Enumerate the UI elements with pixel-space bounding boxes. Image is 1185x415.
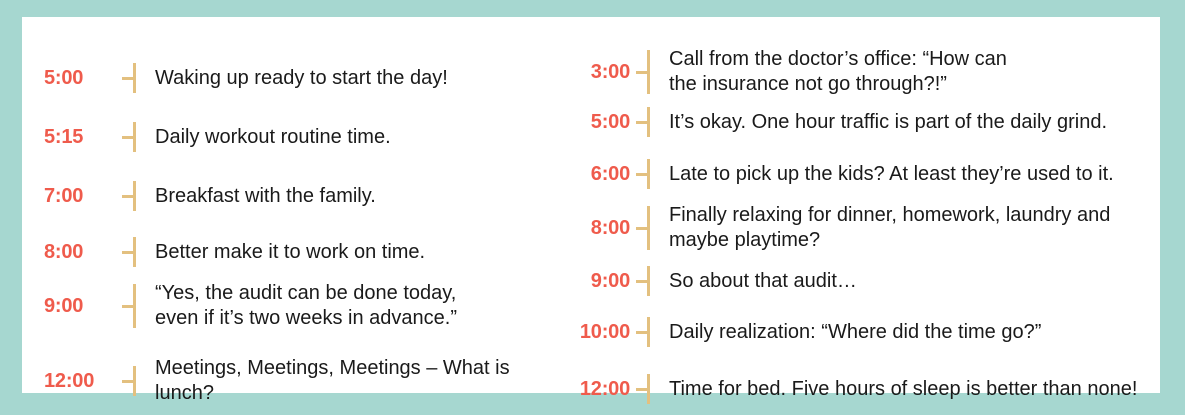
timeline-entry: 7:00 Breakfast with the family.: [22, 181, 547, 211]
entry-text: Waking up ready to start the day!: [155, 66, 547, 91]
entry-text: Finally relaxing for dinner, homework, l…: [669, 203, 1160, 253]
timeline-card: 5:00 Waking up ready to start the day! 5…: [22, 17, 1160, 393]
entry-text: Late to pick up the kids? At least they’…: [669, 162, 1160, 187]
timeline-tick-icon: [116, 284, 142, 328]
timeline-tick-icon: [630, 374, 656, 404]
afternoon-evening-column: 3:00 Call from the doctor’s office: “How…: [547, 17, 1160, 393]
timeline-tick-icon: [116, 366, 142, 396]
timeline-entry: 9:00 “Yes, the audit can be done today, …: [22, 281, 547, 331]
entry-time: 3:00: [558, 61, 630, 83]
timeline-entry: 3:00 Call from the doctor’s office: “How…: [547, 47, 1160, 97]
timeline-entry: 8:00 Better make it to work on time.: [22, 237, 547, 267]
timeline-tick-icon: [630, 107, 656, 137]
timeline-tick-icon: [630, 50, 656, 94]
entry-text: Daily workout routine time.: [155, 125, 547, 150]
entry-text: Meetings, Meetings, Meetings – What is l…: [155, 356, 547, 406]
timeline-tick-icon: [116, 63, 142, 93]
timeline-tick-icon: [630, 159, 656, 189]
timeline-tick-icon: [116, 237, 142, 267]
entry-text: Call from the doctor’s office: “How can …: [669, 47, 1160, 97]
timeline-tick-icon: [630, 266, 656, 296]
entry-time: 5:15: [44, 126, 116, 148]
entry-time: 6:00: [558, 163, 630, 185]
entry-time: 12:00: [44, 370, 116, 392]
timeline-entry: 5:00 Waking up ready to start the day!: [22, 63, 547, 93]
timeline-infographic: 5:00 Waking up ready to start the day! 5…: [0, 0, 1185, 415]
entry-text: “Yes, the audit can be done today, even …: [155, 281, 547, 331]
timeline-columns: 5:00 Waking up ready to start the day! 5…: [22, 17, 1160, 393]
entry-text: Breakfast with the family.: [155, 184, 547, 209]
timeline-entry: 9:00 So about that audit…: [547, 266, 1160, 296]
entry-time: 8:00: [558, 217, 630, 239]
entry-time: 5:00: [44, 67, 116, 89]
entry-time: 9:00: [44, 295, 116, 317]
entry-text: Better make it to work on time.: [155, 240, 547, 265]
timeline-tick-icon: [116, 122, 142, 152]
timeline-entry: 8:00 Finally relaxing for dinner, homewo…: [547, 203, 1160, 253]
entry-text: So about that audit…: [669, 269, 1160, 294]
timeline-entry: 12:00 Meetings, Meetings, Meetings – Wha…: [22, 356, 547, 406]
timeline-entry: 10:00 Daily realization: “Where did the …: [547, 317, 1160, 347]
entry-text: Daily realization: “Where did the time g…: [669, 320, 1160, 345]
morning-column: 5:00 Waking up ready to start the day! 5…: [22, 17, 547, 393]
entry-text: It’s okay. One hour traffic is part of t…: [669, 110, 1160, 135]
entry-time: 5:00: [558, 111, 630, 133]
entry-text: Time for bed. Five hours of sleep is bet…: [669, 377, 1160, 402]
timeline-entry: 12:00 Time for bed. Five hours of sleep …: [547, 374, 1160, 404]
timeline-entry: 5:00 It’s okay. One hour traffic is part…: [547, 107, 1160, 137]
timeline-entry: 5:15 Daily workout routine time.: [22, 122, 547, 152]
entry-time: 10:00: [558, 321, 630, 343]
timeline-tick-icon: [630, 317, 656, 347]
timeline-tick-icon: [116, 181, 142, 211]
timeline-entry: 6:00 Late to pick up the kids? At least …: [547, 159, 1160, 189]
entry-time: 7:00: [44, 185, 116, 207]
timeline-tick-icon: [630, 206, 656, 250]
entry-time: 12:00: [558, 378, 630, 400]
entry-time: 8:00: [44, 241, 116, 263]
entry-time: 9:00: [558, 270, 630, 292]
